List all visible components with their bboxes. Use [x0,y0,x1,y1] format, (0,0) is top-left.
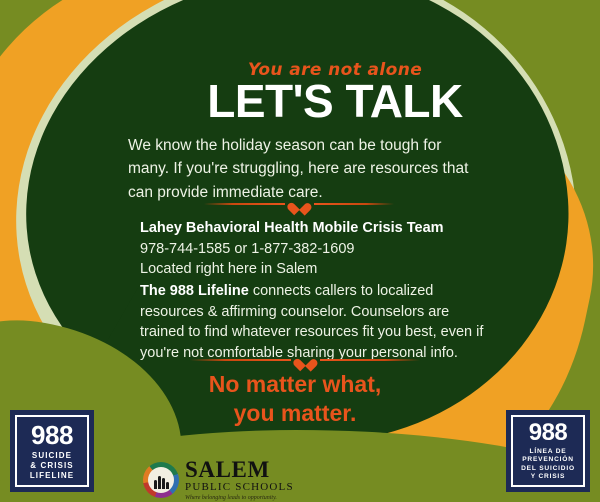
figure [154,480,157,489]
poster-canvas: You are not alone LET'S TALK We know the… [0,0,600,502]
badge-number: 988 [31,422,73,448]
heart-divider-top [204,196,394,212]
page-title: LET'S TALK [0,78,600,125]
people-figures-icon [152,471,170,489]
intro-paragraph: We know the holiday season can be tough … [128,134,470,204]
divider-rule-left [204,203,285,205]
salem-public-schools-logo: SALEM PUBLIC SCHOOLS Where belonging lea… [143,458,294,501]
heart-divider-bottom [190,352,420,368]
salem-wordmark: SALEM PUBLIC SCHOOLS Where belonging lea… [185,458,294,501]
resource-title: Lahey Behavioral Health Mobile Crisis Te… [140,218,480,239]
heart-icon [298,353,313,368]
badge-988-lifeline-english: 988 SUICIDE & CRISIS LIFELINE [10,410,94,492]
resource-988-lifeline: The 988 Lifeline connects callers to loc… [140,281,484,363]
divider-rule-right [314,203,395,205]
poster-content: You are not alone LET'S TALK We know the… [0,0,600,502]
resource-lahey: Lahey Behavioral Health Mobile Crisis Te… [140,218,480,280]
badge-subtitle: LÍNEA DE PREVENCIÓN DEL SUICIDIO Y CRISI… [521,448,575,481]
divider-rule-right [320,359,421,361]
figure [162,478,165,489]
closing-line-2: you matter. [130,399,460,428]
salem-tagline: Where belonging leads to opportunity. [185,495,294,501]
divider-rule-left [190,359,291,361]
closing-message: No matter what, you matter. [130,370,460,429]
heart-icon [292,197,307,212]
badge-subtitle: SUICIDE & CRISIS LIFELINE [30,451,74,481]
figure [158,476,161,489]
badge-988-lifeline-spanish: 988 LÍNEA DE PREVENCIÓN DEL SUICIDIO Y C… [506,410,590,492]
salem-name: SALEM [185,458,294,481]
badge-inner: 988 SUICIDE & CRISIS LIFELINE [15,415,89,487]
resource-phone: 978-744-1585 or 1-877-382-1609 [140,239,480,260]
resource-location: Located right here in Salem [140,259,480,280]
figure [166,482,169,489]
salem-emblem-icon [143,462,179,498]
resource-title: The 988 Lifeline [140,283,249,299]
badge-number: 988 [529,421,568,445]
closing-line-1: No matter what, [130,370,460,399]
salem-subtitle: PUBLIC SCHOOLS [185,482,294,493]
badge-inner: 988 LÍNEA DE PREVENCIÓN DEL SUICIDIO Y C… [511,415,585,487]
